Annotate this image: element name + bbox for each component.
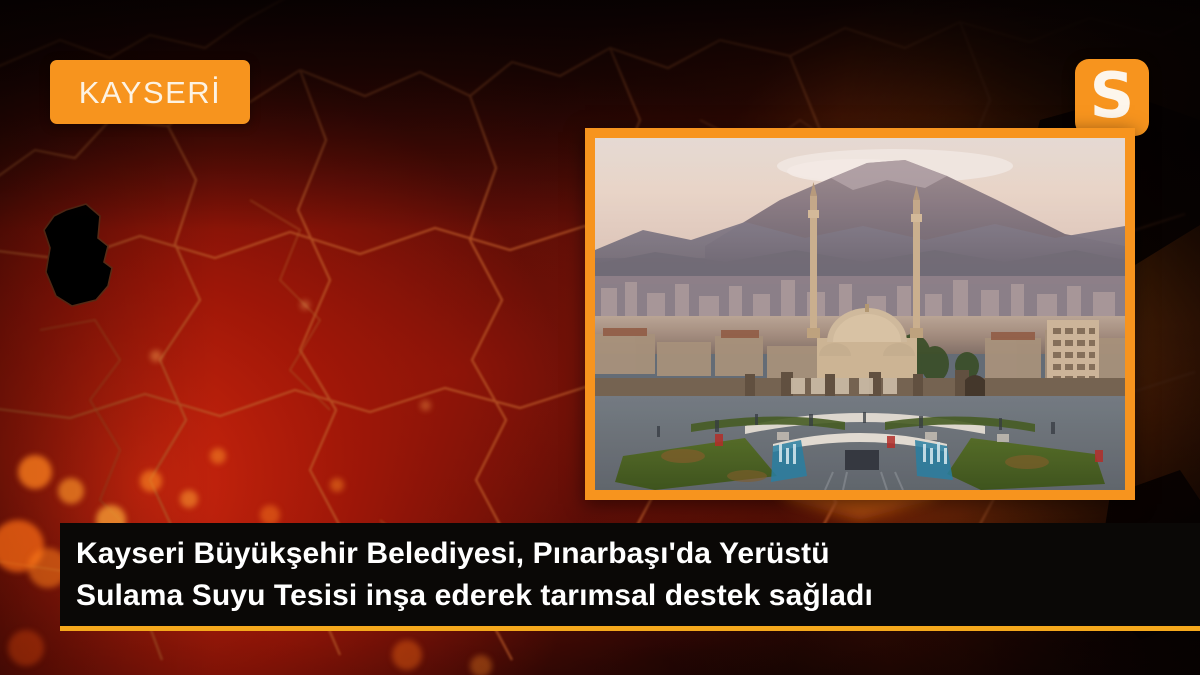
city-photo-artwork [595,138,1125,490]
city-badge-label: KAYSERİ [79,77,222,108]
city-photo [595,138,1125,490]
accent-rule [60,626,1200,631]
brand-logo: S [1075,59,1149,136]
brand-s-logo-letter: S [1090,65,1135,127]
headline-line-1: Kayseri Büyükşehir Belediyesi, Pınarbaşı… [76,533,1200,575]
news-card: KAYSERİ S [0,0,1200,675]
headline-line-2: Sulama Suyu Tesisi inşa ederek tarımsal … [76,575,1200,617]
photo-frame [585,128,1135,500]
headline-bar: Kayseri Büyükşehir Belediyesi, Pınarbaşı… [60,523,1200,626]
city-badge: KAYSERİ [50,60,250,124]
